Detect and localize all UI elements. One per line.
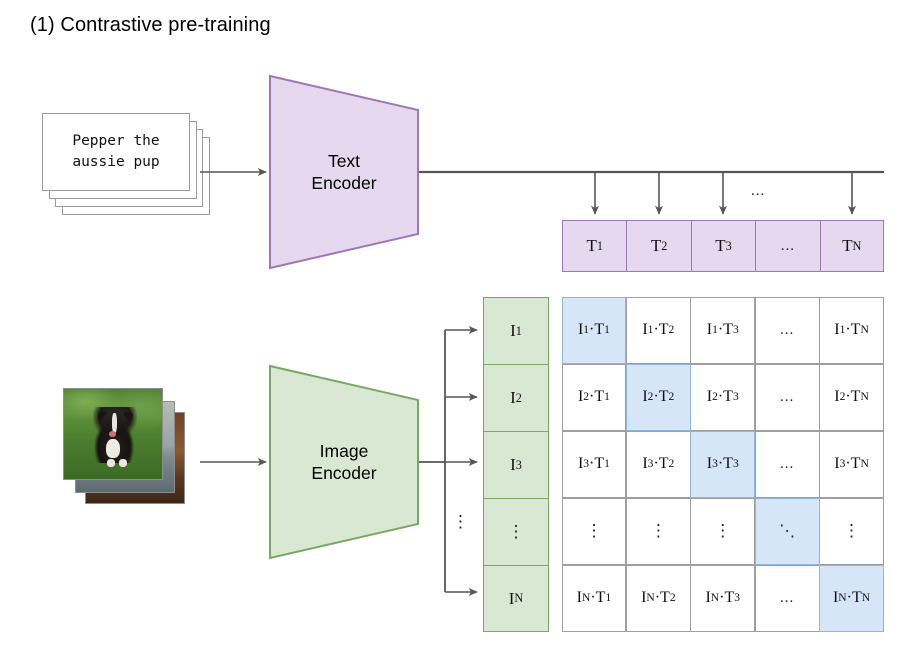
text-input-stack: Pepper the aussie pup [42, 113, 232, 218]
text-encoder-label-line1: Text [311, 150, 376, 172]
image-bus-ellipsis: ⋮ [452, 512, 469, 532]
matrix-ellipsis-cell: ⋱ [755, 498, 820, 566]
photo-dog-blaze [112, 413, 117, 433]
image-encoder-block[interactable]: Image Encoder [268, 364, 420, 560]
text-embedding-ellipsis: ... [755, 220, 819, 272]
image-encoder-label-line1: Image [311, 440, 376, 462]
text-embedding-cell-N: TN [820, 220, 884, 272]
matrix-cell-1-1: I1·T1 [562, 297, 627, 365]
matrix-cell-N-3: IN·T3 [690, 565, 755, 633]
matrix-cell-3-2: I3·T2 [626, 431, 691, 499]
image-embedding-cell-1: I1 [483, 297, 549, 364]
caption-line-2: aussie pup [72, 154, 159, 170]
text-card-front: Pepper the aussie pup [42, 113, 190, 191]
text-embedding-cell-1: T1 [562, 220, 626, 272]
text-embedding-cell-3: T3 [691, 220, 755, 272]
text-embedding-row: T1T2T3...TN [562, 220, 884, 272]
matrix-cell-2-3: I2·T3 [690, 364, 755, 432]
text-embedding-cell-2: T2 [626, 220, 690, 272]
matrix-cell-3-1: I3·T1 [562, 431, 627, 499]
matrix-cell-1-N: I1·TN [819, 297, 884, 365]
text-encoder-label-line2: Encoder [311, 172, 376, 194]
text-encoder-label: Text Encoder [311, 150, 376, 194]
image-input-stack [63, 388, 198, 508]
matrix-cell-N-1: IN·T1 [562, 565, 627, 633]
matrix-cell-3-N: I3·TN [819, 431, 884, 499]
image-embedding-cell-N: IN [483, 565, 549, 632]
matrix-ellipsis-cell: ... [755, 431, 820, 499]
matrix-ellipsis-cell: ... [755, 297, 820, 365]
matrix-cell-N-2: IN·T2 [626, 565, 691, 633]
text-bus-ellipsis: ... [751, 183, 765, 200]
image-encoder-label-line2: Encoder [311, 462, 376, 484]
matrix-cell-2-2: I2·T2 [626, 364, 691, 432]
matrix-ellipsis-cell: ... [755, 364, 820, 432]
matrix-ellipsis-cell: ... [755, 565, 820, 633]
image-embedding-ellipsis: ⋮ [483, 498, 549, 565]
image-embedding-cell-2: I2 [483, 364, 549, 431]
matrix-cell-2-N: I2·TN [819, 364, 884, 432]
matrix-ellipsis-cell: ⋮ [690, 498, 755, 566]
photo-dog-paw-left [107, 459, 115, 467]
matrix-ellipsis-cell: ⋮ [819, 498, 884, 566]
matrix-cell-2-1: I2·T1 [562, 364, 627, 432]
image-encoder-label: Image Encoder [311, 440, 376, 484]
image-card-front-dog-photo [63, 388, 163, 480]
matrix-cell-1-3: I1·T3 [690, 297, 755, 365]
photo-dog-paw-right [119, 459, 127, 467]
matrix-cell-3-3: I3·T3 [690, 431, 755, 499]
figure-canvas: (1) Contrastive pre-training Pepper the … [0, 0, 906, 654]
matrix-ellipsis-cell: ⋮ [562, 498, 627, 566]
text-card-caption: Pepper the aussie pup [72, 131, 159, 173]
caption-line-1: Pepper the [72, 133, 159, 149]
photo-dog-chest [106, 439, 120, 459]
matrix-cell-1-2: I1·T2 [626, 297, 691, 365]
matrix-ellipsis-cell: ⋮ [626, 498, 691, 566]
matrix-cell-N-N: IN·TN [819, 565, 884, 633]
photo-dog-tongue [109, 431, 116, 436]
similarity-matrix: I1·T1I1·T2I1·T3...I1·TNI2·T1I2·T2I2·T3..… [562, 297, 884, 632]
image-embedding-cell-3: I3 [483, 431, 549, 498]
text-encoder-block[interactable]: Text Encoder [268, 74, 420, 270]
figure-title: (1) Contrastive pre-training [30, 14, 271, 37]
image-embedding-column: I1I2I3⋮IN [483, 297, 549, 632]
